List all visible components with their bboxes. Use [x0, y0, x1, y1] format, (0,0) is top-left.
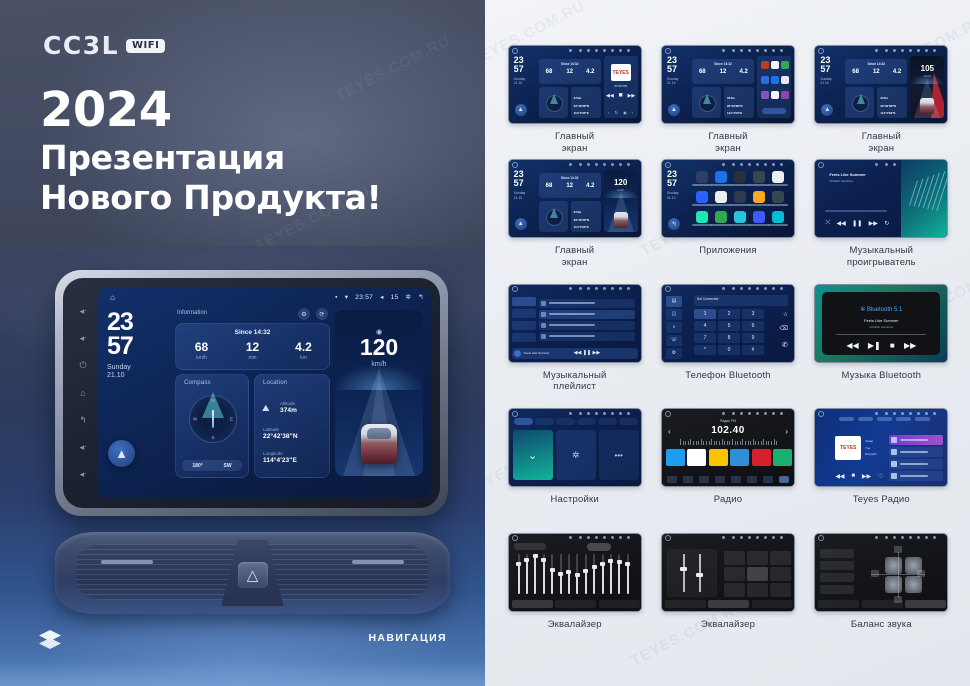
power-icon[interactable]: ⏻	[78, 360, 89, 371]
teyes-nav-item[interactable]	[896, 417, 911, 421]
driving-view-widget[interactable]: ◉ 120 km/h	[335, 310, 423, 476]
reset-icon[interactable]: ⟳	[316, 308, 328, 320]
mini-location-card: 374m22°42'38"N114°4'23"E	[877, 87, 907, 118]
dialpad-key[interactable]: 4	[694, 321, 716, 331]
status-dot-icon	[933, 49, 936, 52]
status-dot-icon	[764, 412, 767, 415]
status-dot-icon	[772, 287, 775, 290]
stop-icon[interactable]: ■	[619, 92, 623, 99]
eq-band-knob[interactable]	[533, 554, 538, 558]
stat-unit: min	[227, 355, 278, 361]
radio-dock-icon[interactable]	[731, 476, 741, 483]
back-icon[interactable]: ↰	[418, 293, 424, 301]
app-icon[interactable]	[761, 61, 769, 69]
compass-title: Compass	[184, 380, 211, 386]
eq-preset-button[interactable]	[770, 583, 791, 597]
gallery-caption: Музыкальныйплейлист	[543, 370, 607, 393]
balance-preset-row[interactable]	[820, 561, 854, 570]
media-controls[interactable]: ◀◀■▶▶	[604, 92, 638, 99]
playlist-row[interactable]	[539, 310, 635, 319]
dialpad-key[interactable]: 5	[718, 321, 740, 331]
eq-preset-button[interactable]	[770, 551, 791, 565]
radio-preset[interactable]	[730, 449, 749, 466]
favorite-icon[interactable]: ♡	[878, 473, 883, 480]
home-icon[interactable]: ⌂	[108, 293, 117, 302]
eq-band[interactable]	[627, 554, 629, 594]
status-dot-icon	[595, 412, 598, 415]
navigation-arrow-icon[interactable]: ▲	[515, 218, 527, 230]
clock-minutes: 57	[107, 334, 169, 358]
teyes-radio-row[interactable]	[889, 459, 943, 469]
thumb-equalizer-presets[interactable]	[661, 533, 795, 612]
next-track-icon[interactable]: ▶▶	[904, 341, 916, 350]
thumb-radio[interactable]: Радио FM102.40‹›	[661, 408, 795, 487]
dialpad-key[interactable]: 1	[694, 309, 716, 319]
app-icon[interactable]	[753, 211, 765, 223]
tuner-tick	[766, 441, 767, 445]
app-icon[interactable]	[761, 76, 769, 84]
dialpad-key[interactable]: 3	[742, 309, 764, 319]
navigation-arrow-icon[interactable]: ▲	[108, 440, 135, 467]
caption-line-1: Главный	[708, 131, 747, 143]
teyes-nav-item[interactable]	[858, 417, 873, 421]
eq-band-knob[interactable]	[575, 573, 580, 577]
eq-preset-button[interactable]	[747, 583, 768, 597]
prev-track-icon[interactable]: ◀◀	[606, 93, 614, 99]
dialpad-key[interactable]: 0	[718, 345, 740, 355]
volume-down-icon[interactable]: ◂ᐧ	[78, 333, 89, 344]
settings-tab[interactable]	[619, 418, 638, 425]
tuner-tick	[690, 439, 691, 445]
eq-band-knob[interactable]	[516, 562, 521, 566]
tuner-tick	[758, 441, 759, 445]
app-icon[interactable]	[761, 91, 769, 99]
mini-clock: 2357	[514, 170, 524, 187]
thumb-teyes-radio[interactable]: TEYESЖанрГодБитрейт◀◀■▶▶♡	[814, 408, 948, 487]
eq-tab[interactable]	[862, 600, 903, 608]
favorite-icon[interactable]: ☆	[783, 311, 788, 318]
speed-unit: km/h	[335, 361, 423, 368]
call-icon[interactable]: ✆	[782, 341, 788, 349]
app-icon[interactable]	[772, 171, 784, 183]
eq-band-fill	[602, 564, 604, 594]
status-dot-icon	[875, 163, 878, 166]
balance-preset-row[interactable]	[820, 549, 854, 558]
next-icon[interactable]: ›	[632, 110, 633, 115]
mini-status-bar	[662, 46, 794, 53]
thumb-home-screen-apps[interactable]: 2357Sunday21.10Since 14:3268124.2374m22°…	[661, 45, 795, 124]
track-icon	[541, 323, 546, 328]
eq-preset-button[interactable]	[770, 567, 791, 581]
status-dot-icon	[603, 412, 606, 415]
eq-preset-chip[interactable]	[514, 543, 546, 550]
status-dot-icon	[901, 49, 904, 52]
player-track-title: Feels Like Summer	[829, 172, 865, 177]
head-unit-screen[interactable]: ⌂ ▪ ▾ 23:57 ◂ 15 ✲ ↰ 23 57 Sunday 21.10 …	[98, 288, 431, 498]
hero-panel: TEYES.COM.RU TEYES.COM.RU TEYES.COM.RU T…	[0, 0, 485, 686]
more-tile[interactable]: •••	[599, 430, 639, 480]
eq-preset-button[interactable]	[724, 567, 745, 581]
status-dot-icon	[603, 287, 606, 290]
radio-dock-icon[interactable]	[779, 476, 789, 483]
eq-band-knob[interactable]	[600, 562, 605, 566]
wifi-tile[interactable]: ⌄	[513, 430, 553, 480]
repeat-icon[interactable]: ↻	[884, 220, 889, 227]
dialpad-key[interactable]: 8	[718, 333, 740, 343]
dialpad-key[interactable]: #	[742, 345, 764, 355]
thumb-home-screen-drive[interactable]: 2357Sunday21.10Since 14:3268124.2374m22°…	[814, 45, 948, 124]
thumb-settings[interactable]: ⌄✲•••	[508, 408, 642, 487]
track-icon	[541, 334, 546, 339]
thumb-equalizer-sliders[interactable]	[508, 533, 642, 612]
teyes-radio-row[interactable]	[889, 471, 943, 481]
phone-nav-icon[interactable]: ◫	[666, 309, 682, 320]
status-dot-icon	[740, 536, 743, 539]
mini-clock-sub: Sunday21.10	[514, 191, 526, 200]
settings-tab[interactable]	[598, 418, 617, 425]
radio-preset[interactable]	[752, 449, 771, 466]
eq-band-knob[interactable]	[566, 570, 571, 574]
playlist-row[interactable]	[539, 299, 635, 308]
volume-icon[interactable]: ◉	[623, 110, 627, 115]
radio-dock-icon[interactable]	[747, 476, 757, 483]
app-icon[interactable]	[781, 61, 789, 69]
navigation-arrow-icon[interactable]: ▲	[668, 104, 680, 116]
status-dot-icon	[780, 536, 783, 539]
eq-band[interactable]	[585, 554, 587, 594]
volume-up-icon[interactable]: ◂ᐧ	[78, 306, 89, 317]
home-icon	[665, 162, 671, 168]
eq-band-knob[interactable]	[558, 572, 563, 576]
thumb-applications[interactable]: 2357Sunday21.10↰	[661, 159, 795, 238]
mini-compass-card	[539, 87, 568, 118]
eq-tab[interactable]	[752, 600, 793, 608]
eq-band[interactable]	[593, 554, 595, 594]
gallery-cell: Эквалайзер	[502, 533, 647, 653]
prev-track-icon[interactable]: ◀◀	[835, 473, 844, 480]
compass-west: W	[193, 417, 197, 422]
playlist-row[interactable]	[539, 332, 635, 341]
eq-band[interactable]	[543, 554, 545, 594]
mini-status-bar	[662, 409, 794, 416]
eq-band-knob[interactable]	[625, 562, 630, 566]
location-title: Location	[263, 380, 287, 386]
status-dot-icon	[611, 536, 614, 539]
status-bar: ▪ ▾ 23:57 ◂ 15 ✲ ↰	[335, 293, 424, 301]
stat-value: 4.2	[278, 341, 329, 353]
eq-band-fill	[627, 564, 629, 594]
thumb-music-playlist[interactable]: Feels Like Summer◀◀ ❚❚ ▶▶	[508, 284, 642, 363]
thumb-home-screen-speed[interactable]: 2357Sunday21.10Since 14:3268124.2374m22°…	[508, 159, 642, 238]
prev-station-icon[interactable]: ‹	[668, 427, 671, 436]
next-station-icon[interactable]: ›	[785, 427, 788, 436]
eq-preset-button[interactable]	[747, 551, 768, 565]
eq-band-knob[interactable]	[541, 558, 546, 562]
mini-clock: 2357	[667, 170, 677, 187]
mini-driving-panel: 120km/h	[604, 170, 638, 232]
tuner-tick	[732, 439, 733, 445]
radio-dock-icon[interactable]	[715, 476, 725, 483]
settings-tab[interactable]	[514, 418, 533, 425]
compass-needle-icon	[212, 410, 214, 428]
tuner-tick	[753, 439, 754, 445]
bluetooth-tile[interactable]: ✲	[556, 430, 596, 480]
play-pause-icon[interactable]: ▶❚	[868, 341, 881, 350]
eq-tab[interactable]	[905, 600, 946, 608]
teyes-radio-row[interactable]	[889, 435, 943, 445]
status-dot-icon	[909, 536, 912, 539]
prev-icon[interactable]: ‹	[608, 110, 609, 115]
eq-tab[interactable]	[708, 600, 749, 608]
eq-tab[interactable]	[512, 600, 553, 608]
mini-status-bar	[815, 46, 947, 53]
status-dot-icon	[756, 287, 759, 290]
stop-icon[interactable]: ■	[890, 341, 895, 350]
status-dot-icon	[595, 536, 598, 539]
playlist-category[interactable]	[512, 297, 536, 306]
track-icon	[541, 301, 546, 306]
eq-band[interactable]	[610, 554, 612, 594]
playlist-category[interactable]	[512, 321, 536, 330]
app-label	[711, 224, 731, 226]
next-track-icon[interactable]: ▶▶	[862, 473, 871, 480]
status-dot-icon	[595, 49, 598, 52]
app-icon[interactable]	[771, 76, 779, 84]
back-icon[interactable]: ↰	[78, 415, 89, 426]
radio-preset[interactable]	[666, 449, 685, 466]
app-icon[interactable]	[781, 91, 789, 99]
clock-date: 21.10	[107, 372, 169, 381]
balance-preset-row[interactable]	[820, 573, 854, 582]
tuner-tick	[716, 441, 717, 445]
app-icon[interactable]	[771, 91, 779, 99]
player-controls[interactable]: ◀◀ ❚❚ ▶▶	[574, 350, 601, 356]
app-icon[interactable]	[772, 211, 784, 223]
settings-tab[interactable]	[556, 418, 575, 425]
now-playing-bar[interactable]: Feels Like Summer◀◀ ❚❚ ▶▶	[512, 348, 638, 359]
radio-dock-icon[interactable]	[667, 476, 677, 483]
teyes-nav-item[interactable]	[877, 417, 892, 421]
home-icon	[665, 48, 671, 54]
prev-track-icon[interactable]: ◀◀	[837, 220, 846, 227]
tuner-tick	[683, 441, 684, 445]
eq-band[interactable]	[526, 554, 528, 594]
album-art	[514, 350, 521, 357]
player-controls[interactable]: ⤬◀◀❚❚▶▶↻	[825, 220, 889, 227]
thumb-home-screen-media[interactable]: 2357Sunday21.10Since 14:3268124.2374m22°…	[508, 45, 642, 124]
thumb-sound-balance[interactable]	[814, 533, 948, 612]
dialpad-key[interactable]: 9	[742, 333, 764, 343]
app-label	[692, 184, 712, 186]
mini-location-card: 374m22°42'38"N114°4'23"E	[571, 87, 601, 118]
eq-tab[interactable]	[818, 600, 859, 608]
fader-knob[interactable]	[680, 567, 687, 571]
settings-tab[interactable]	[577, 418, 596, 425]
status-dot-icon	[611, 412, 614, 415]
app-icon[interactable]	[734, 211, 746, 223]
app-icon[interactable]	[753, 191, 765, 203]
prev-track-icon[interactable]: ◀◀	[846, 341, 858, 350]
tuner-tick	[776, 441, 777, 445]
next-track-icon[interactable]: ◂ᐧ	[78, 469, 89, 480]
thumb-bluetooth-phone[interactable]: ▤◫⌕☏⚙123456789*0#Not Connected☆⌫✆	[661, 284, 795, 363]
app-icon[interactable]	[781, 76, 789, 84]
eq-band-knob[interactable]	[583, 569, 588, 573]
app-icon[interactable]	[715, 211, 727, 223]
radio-dock-icon[interactable]	[683, 476, 693, 483]
progress-bar[interactable]	[836, 334, 926, 336]
next-track-icon[interactable]: ▶▶	[869, 220, 878, 227]
status-dot-icon	[732, 287, 735, 290]
gallery-caption: Эквалайзер	[701, 619, 755, 631]
track-name	[549, 302, 595, 304]
teyes-nav-item[interactable]	[915, 417, 930, 421]
status-dot-icon	[740, 287, 743, 290]
backspace-icon[interactable]: ⌫	[780, 325, 788, 332]
mini-clock: 2357	[667, 56, 677, 73]
eq-band-knob[interactable]	[550, 568, 555, 572]
home-icon	[512, 286, 518, 292]
tuner-tick	[740, 441, 741, 445]
phone-nav-icon[interactable]: ⌕	[666, 322, 682, 333]
eq-tab[interactable]	[599, 600, 640, 608]
app-icon[interactable]	[696, 171, 708, 183]
fader-track[interactable]	[683, 554, 685, 592]
status-dot-icon	[579, 412, 582, 415]
eq-band[interactable]	[518, 554, 520, 594]
eq-band[interactable]	[602, 554, 604, 594]
caption-line-1: Музыкальный	[543, 370, 607, 382]
wifi-icon: ▾	[345, 293, 349, 301]
shuffle-icon[interactable]: ⤬	[825, 220, 830, 227]
stop-icon[interactable]: ■	[851, 473, 855, 480]
hazard-button[interactable]: △	[238, 562, 268, 588]
eq-tab[interactable]	[665, 600, 706, 608]
radio-dock-icon[interactable]	[699, 476, 709, 483]
app-icon[interactable]	[734, 171, 746, 183]
eq-band-knob[interactable]	[617, 560, 622, 564]
status-dot-icon	[780, 287, 783, 290]
radio-dock-icon[interactable]	[763, 476, 773, 483]
layers-icon	[38, 629, 62, 649]
dialpad-key[interactable]: *	[694, 345, 716, 355]
phone-nav-icon[interactable]: ⚙	[666, 348, 682, 359]
gallery-cell: 2357Sunday21.10↰Приложения	[655, 159, 800, 279]
radio-preset[interactable]	[773, 449, 792, 466]
eq-preset-button[interactable]	[724, 583, 745, 597]
dialpad-key[interactable]: 6	[742, 321, 764, 331]
app-icon[interactable]	[753, 171, 765, 183]
eq-preset-button[interactable]	[747, 567, 768, 581]
eq-band-knob[interactable]	[608, 559, 613, 563]
eq-band[interactable]	[551, 554, 553, 594]
settings-tab[interactable]	[535, 418, 554, 425]
eq-tab[interactable]	[555, 600, 596, 608]
balance-preset-row[interactable]	[820, 585, 854, 594]
caption-line-2: экран	[555, 257, 594, 269]
repeat-icon[interactable]: ↻	[615, 110, 618, 115]
dialpad-key[interactable]: 2	[718, 309, 740, 319]
tuner-tick	[714, 441, 715, 445]
playlist-category[interactable]	[512, 333, 536, 342]
phone-nav-icon[interactable]: ▤	[666, 296, 682, 307]
dial-input[interactable]: Not Connected	[694, 295, 788, 306]
altitude-block: Altitude 374m	[280, 401, 297, 414]
media-quickbar[interactable]: ‹↻◉›	[606, 110, 636, 115]
app-icon[interactable]	[696, 211, 708, 223]
status-dot-icon	[579, 287, 582, 290]
player-controls[interactable]: ◀◀■▶▶♡	[835, 473, 883, 480]
eq-band-knob[interactable]	[592, 565, 597, 569]
app-label	[749, 204, 769, 206]
playlist-row[interactable]	[539, 321, 635, 330]
pause-icon[interactable]: ❚❚	[852, 220, 862, 227]
volume-icon: ◂	[380, 293, 384, 301]
vent-highlight-left	[101, 560, 153, 564]
gallery-cell: Эквалайзер	[655, 533, 800, 653]
app-icon[interactable]	[734, 191, 746, 203]
tuner-tick	[685, 441, 686, 445]
navigation-arrow-icon[interactable]: ▲	[515, 104, 527, 116]
status-dot-icon	[780, 49, 783, 52]
latitude-label: Latitude	[263, 427, 279, 432]
eq-band[interactable]	[560, 554, 562, 594]
radio-preset[interactable]	[709, 449, 728, 466]
app-icon[interactable]	[772, 191, 784, 203]
home-icon	[818, 48, 824, 54]
status-dot-icon	[569, 49, 572, 52]
speed-value: 120	[335, 336, 423, 359]
phone-nav-icon[interactable]: ☏	[666, 335, 682, 346]
eq-band-knob[interactable]	[524, 558, 529, 562]
app-icon[interactable]	[715, 191, 727, 203]
status-dot-icon	[875, 412, 878, 415]
status-dot-icon	[764, 536, 767, 539]
app-icon[interactable]	[696, 191, 708, 203]
teyes-radio-row[interactable]	[889, 447, 943, 457]
gear-icon[interactable]: ⚙	[298, 308, 310, 320]
app-icon[interactable]	[771, 61, 779, 69]
thumb-bluetooth-music[interactable]: ✲ Bluetooth 5.1Feels Like SummerChildish…	[814, 284, 948, 363]
prev-track-icon[interactable]: ◂ᐧ	[78, 442, 89, 453]
dock-bar[interactable]	[762, 108, 786, 114]
information-title: Information	[177, 310, 207, 316]
eq-preset-button[interactable]	[724, 551, 745, 565]
status-dot-icon	[780, 163, 783, 166]
thumb-music-player[interactable]: Feels Like SummerChildish Gambino⤬◀◀❚❚▶▶…	[814, 159, 948, 238]
status-dot-icon	[579, 163, 582, 166]
stat-value: 68	[176, 341, 227, 353]
fader-knob[interactable]	[696, 573, 703, 577]
progress-bar[interactable]	[825, 210, 887, 212]
dialpad-key[interactable]: 7	[694, 333, 716, 343]
status-dot-icon	[925, 49, 928, 52]
eq-band-fill	[610, 561, 612, 594]
status-dot-icon	[740, 412, 743, 415]
status-dot-icon	[772, 163, 775, 166]
playlist-category[interactable]	[512, 309, 536, 318]
player-controls[interactable]: ◀◀▶❚■▶▶	[846, 341, 916, 350]
eq-band[interactable]	[568, 554, 570, 594]
eq-preset-selector[interactable]	[587, 543, 611, 551]
tuner-tick	[680, 439, 681, 445]
app-icon[interactable]	[715, 171, 727, 183]
app-label	[768, 184, 788, 186]
teyes-nav-item[interactable]	[839, 417, 854, 421]
home-icon[interactable]: ⌂	[78, 388, 89, 399]
radio-preset[interactable]	[687, 449, 706, 466]
next-track-icon[interactable]: ▶▶	[628, 93, 636, 99]
